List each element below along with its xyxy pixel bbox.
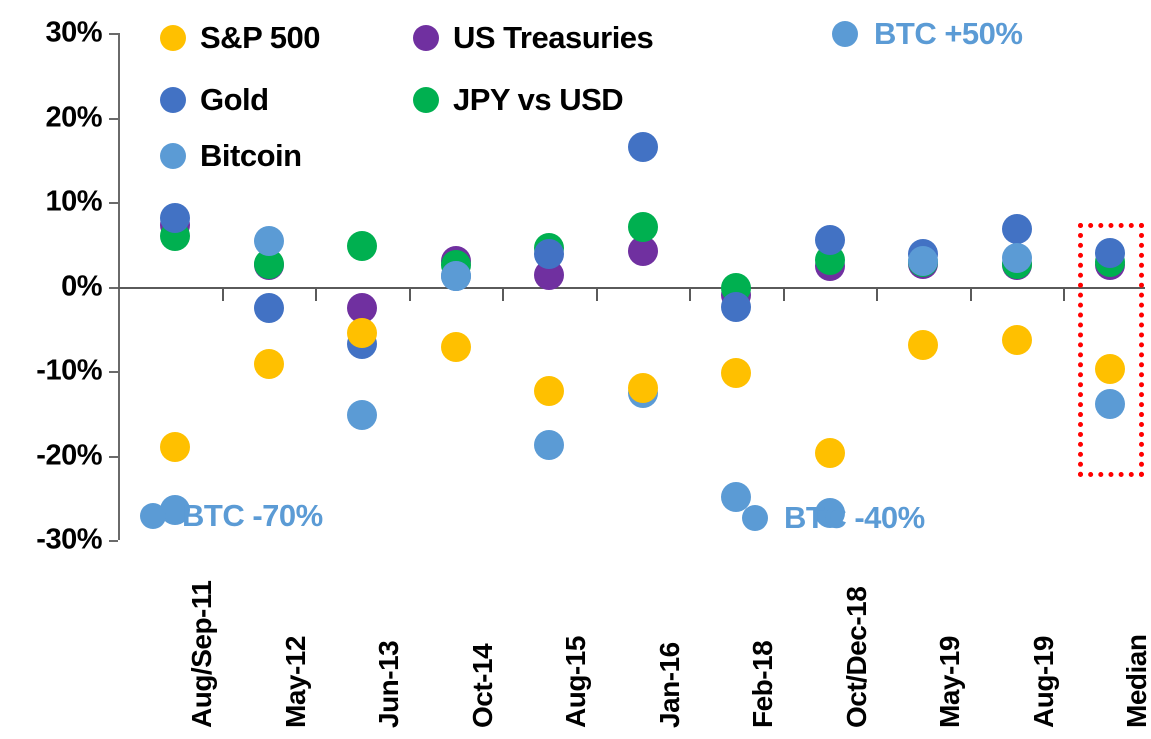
data-point — [628, 373, 658, 403]
zero-baseline — [118, 287, 1145, 289]
data-point — [441, 261, 471, 291]
y-axis-tick-mark — [109, 456, 118, 458]
y-axis-tick-mark — [109, 371, 118, 373]
x-axis-tick-mark — [596, 287, 598, 301]
y-axis-tick-label: -30% — [36, 524, 102, 557]
x-axis-tick-mark — [783, 287, 785, 301]
y-axis-tick-mark — [109, 540, 118, 542]
x-axis-tick-label: Oct/Dec-18 — [841, 587, 873, 728]
x-axis-tick-label: Aug-15 — [560, 636, 592, 728]
x-axis-tick-mark — [1063, 287, 1065, 301]
x-axis-tick-mark — [970, 287, 972, 301]
y-axis-tick-label: 30% — [45, 17, 102, 50]
y-axis-tick-label: 20% — [45, 101, 102, 134]
data-point — [815, 225, 845, 255]
x-axis-tick-label: Aug/Sep-11 — [186, 581, 218, 728]
data-point — [347, 231, 377, 261]
x-axis-tick-label: May-12 — [280, 636, 312, 728]
x-axis-tick-label: Median — [1121, 635, 1151, 728]
y-axis-tick-mark — [109, 287, 118, 289]
data-point — [534, 239, 564, 269]
data-point — [254, 226, 284, 256]
y-axis-tick-mark — [109, 118, 118, 120]
annotation-label: BTC -40% — [784, 500, 925, 536]
data-point — [628, 132, 658, 162]
y-axis-tick-label: -10% — [36, 355, 102, 388]
data-point — [908, 246, 938, 276]
x-axis-tick-label: Aug-19 — [1028, 636, 1060, 728]
y-axis-tick-mark — [109, 202, 118, 204]
annotation-label: BTC -70% — [182, 498, 323, 534]
data-point — [1002, 325, 1032, 355]
data-point — [347, 400, 377, 430]
x-axis-tick-label: May-19 — [934, 636, 966, 728]
data-point — [1002, 214, 1032, 244]
data-point — [160, 432, 190, 462]
x-axis-tick-label: Jun-13 — [373, 641, 405, 728]
plot-area — [118, 33, 1145, 540]
y-axis-tick-label: 0% — [61, 270, 102, 303]
x-axis-tick-mark — [689, 287, 691, 301]
annotation-btc-minus-70: BTC -70% — [140, 498, 323, 534]
x-axis-tick-mark — [876, 287, 878, 301]
data-point — [347, 318, 377, 348]
x-axis-tick-mark — [409, 287, 411, 301]
data-point — [534, 430, 564, 460]
y-axis-tick-label: -20% — [36, 439, 102, 472]
data-point — [1002, 243, 1032, 273]
y-axis-tick-label: 10% — [45, 186, 102, 219]
annotation-btc-plus-50: BTC +50% — [832, 16, 1022, 52]
x-axis-tick-mark — [502, 287, 504, 301]
data-point — [721, 358, 751, 388]
data-point — [628, 212, 658, 242]
y-axis-tick-mark — [109, 33, 118, 35]
data-point — [534, 376, 564, 406]
data-point — [815, 438, 845, 468]
x-axis-tick-label: Jan-16 — [654, 642, 686, 728]
data-point — [254, 293, 284, 323]
median-highlight-box — [1078, 223, 1144, 477]
annotation-label: BTC +50% — [874, 16, 1022, 52]
x-axis-tick-mark — [222, 287, 224, 301]
data-point — [908, 330, 938, 360]
bitcoin-dot-icon — [832, 21, 858, 47]
bitcoin-dot-icon — [742, 505, 768, 531]
x-axis-tick-mark — [315, 287, 317, 301]
annotation-btc-minus-40: BTC -40% — [742, 500, 925, 536]
bitcoin-dot-icon — [140, 503, 166, 529]
data-point — [254, 349, 284, 379]
x-axis-tick-label: Feb-18 — [747, 641, 779, 728]
chart-canvas: 30%20%10%0%-10%-20%-30% Aug/Sep-11May-12… — [0, 0, 1151, 739]
data-point — [721, 292, 751, 322]
data-point — [441, 332, 471, 362]
x-axis-tick-label: Oct-14 — [467, 644, 499, 728]
data-point — [160, 203, 190, 233]
